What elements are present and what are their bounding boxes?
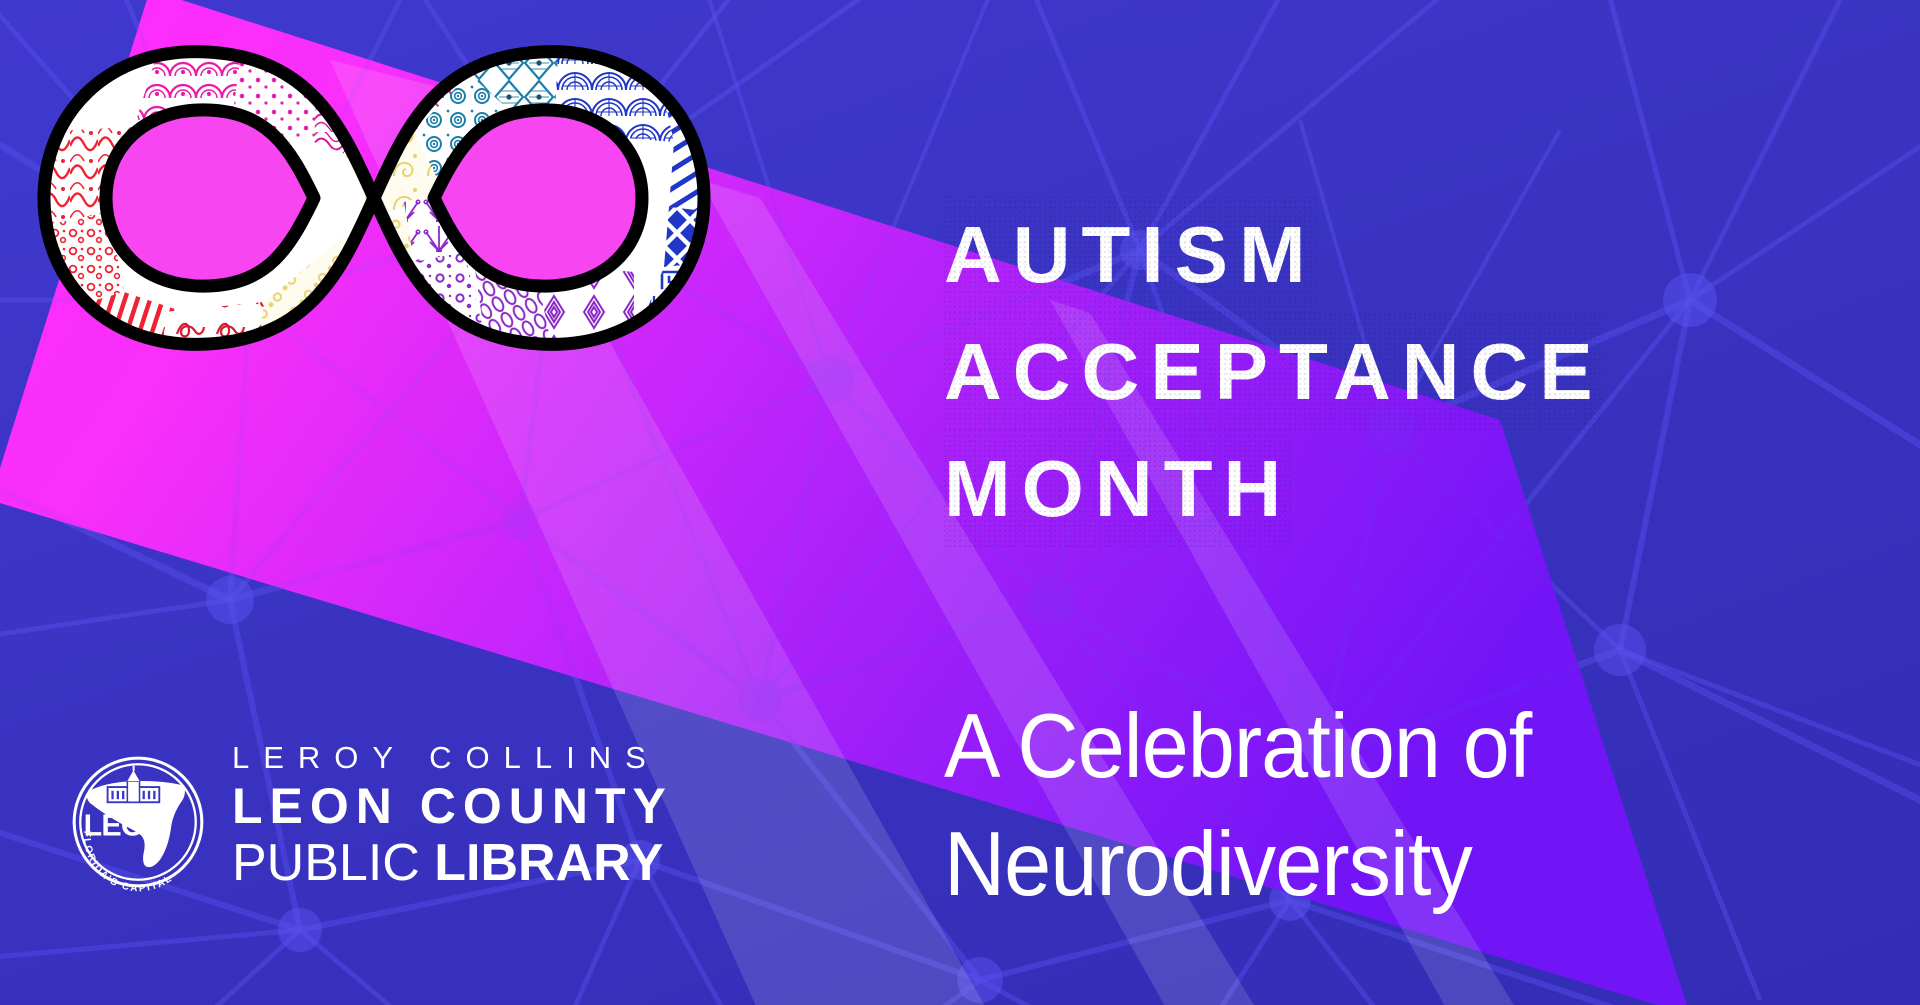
subtitle-block: A Celebration of Neurodiversity: [944, 688, 1920, 924]
leon-county-seal-icon: LEON FLORIDA'S CAPITAL COUNTY: [62, 746, 214, 898]
headline-line-1: AUTISM: [944, 196, 1317, 313]
library-logo-lockup: LEON FLORIDA'S CAPITAL COUNTY LEROY COLL…: [62, 738, 673, 905]
headline-block: AUTISM ACCEPTANCE MONTH: [944, 196, 1894, 547]
neurodiversity-infinity-symbol: [14, 12, 734, 384]
headline-line-3: MONTH: [944, 430, 1292, 547]
subtitle-line-2: Neurodiversity: [944, 806, 1855, 924]
library-library-word: LIBRARY: [434, 834, 663, 892]
library-wordmark: LEROY COLLINS LEON COUNTY PUBLIC LIBRARY: [232, 738, 673, 905]
library-name-line-2: LEON COUNTY: [232, 778, 673, 834]
library-public-word: PUBLIC: [232, 834, 434, 892]
seal-center-label: LEON: [84, 808, 165, 842]
library-name-line-3: PUBLIC LIBRARY: [232, 834, 673, 905]
poster-canvas: AUTISM ACCEPTANCE MONTH A Celebration of…: [0, 0, 1920, 1005]
subtitle-line-1: A Celebration of: [944, 688, 1855, 806]
headline-line-2: ACCEPTANCE: [944, 313, 1604, 430]
library-name-line-1: LEROY COLLINS: [232, 738, 673, 778]
